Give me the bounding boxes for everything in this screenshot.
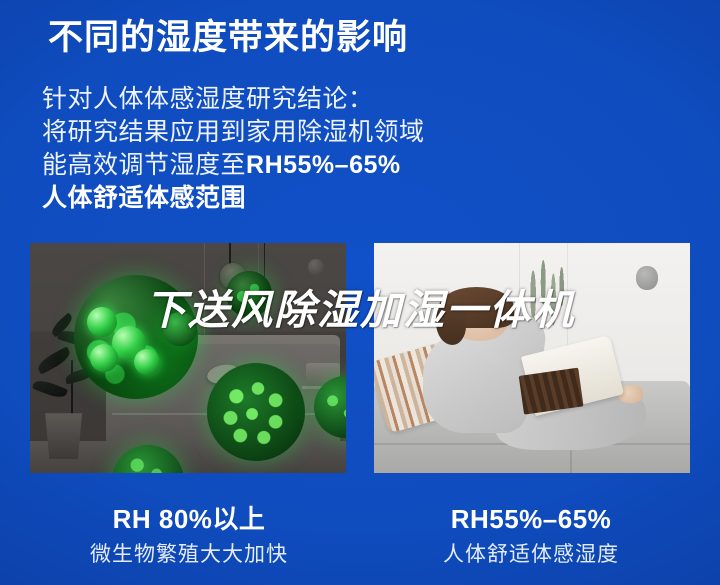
dark-room-illustration [30, 243, 346, 473]
caption-title: RH 80%以上 [24, 503, 354, 535]
plant-stem [71, 360, 73, 422]
pendant-lamp-cord-2 [264, 243, 265, 277]
intro-line-3: 能高效调节湿度至RH55%–65% [42, 149, 602, 182]
photo-high-humidity [30, 243, 346, 473]
intro-paragraph: 针对人体体感湿度研究结论： 将研究结果应用到家用除湿机领域 能高效调节湿度至RH… [42, 83, 602, 215]
photo-comfort-humidity [374, 243, 690, 473]
intro-line-4: 人体舒适体感范围 [42, 182, 602, 215]
plant-pot [43, 413, 85, 459]
plant-leaf [32, 377, 68, 401]
figure-hair-strand [436, 304, 466, 345]
plant-leaf [35, 347, 73, 375]
caption-comfort-humidity: RH55%–65% 人体舒适体感湿度 [366, 503, 696, 568]
book-cover [519, 367, 584, 414]
wall-decor-knob [308, 259, 324, 275]
caption-title: RH55%–65% [366, 503, 696, 535]
humidity-infographic-poster: 不同的湿度带来的影响 针对人体体感湿度研究结论： 将研究结果应用到家用除湿机领域… [0, 0, 720, 585]
microbe-sphere-corona [207, 363, 305, 461]
microbe-sphere-small [163, 312, 197, 346]
humidity-range-value: RH55%–65% [246, 151, 401, 179]
caption-high-humidity: RH 80%以上 微生物繁殖大大加快 [24, 503, 354, 568]
caption-subtitle: 人体舒适体感湿度 [366, 541, 696, 568]
wall-seam [204, 243, 205, 340]
caption-subtitle: 微生物繁殖大大加快 [24, 541, 354, 568]
comparison-photo-row [30, 243, 690, 473]
microbe-sphere-mid [226, 271, 272, 317]
intro-line-3-text: 能高效调节湿度至 [42, 151, 246, 179]
page-title: 不同的湿度带来的影响 [48, 16, 408, 60]
intro-line-1: 针对人体体感湿度研究结论： [42, 83, 602, 116]
microbe-bead [134, 349, 160, 375]
bright-room-illustration [374, 243, 690, 473]
woman-reading-figure [418, 294, 646, 464]
wall-decor-knob [636, 266, 658, 290]
intro-line-2: 将研究结果应用到家用除湿机领域 [42, 116, 602, 149]
